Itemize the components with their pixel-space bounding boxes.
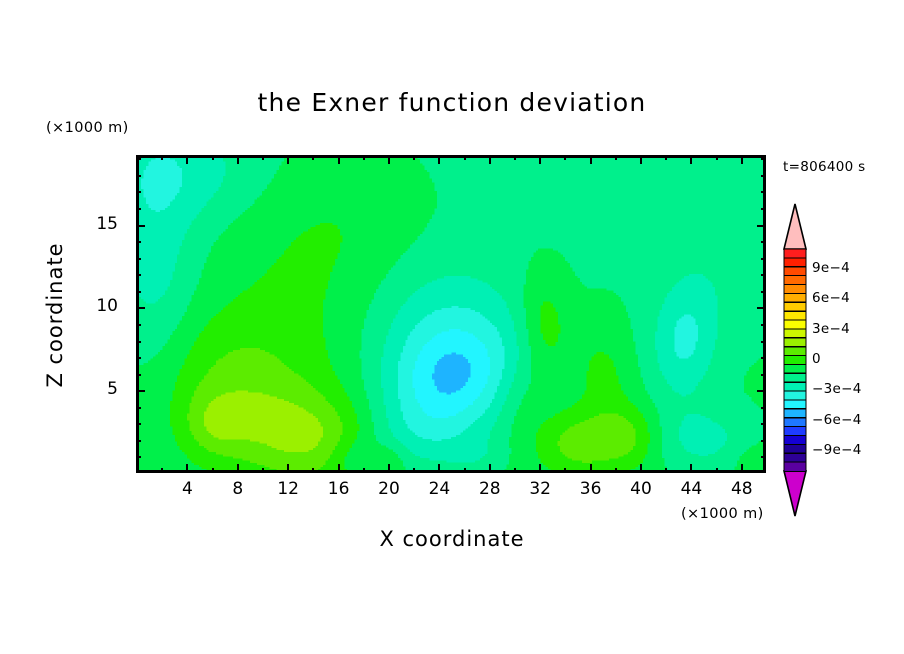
x-tick-label: 48 [722,479,762,499]
colorbar-band [784,391,806,400]
axis-tick [761,324,766,326]
y-axis-unit-label: (×1000 m) [46,120,129,136]
axis-tick [615,468,617,473]
axis-tick [464,468,466,473]
axis-tick [757,390,766,392]
axis-tick [761,357,766,359]
axis-tick [136,357,141,359]
x-tick-label: 44 [671,479,711,499]
axis-tick [136,390,145,392]
axis-tick [212,155,214,160]
colorbar-band [784,409,806,418]
contour-field [136,155,766,473]
axis-tick [287,464,289,473]
axis-tick [136,158,141,160]
x-tick-label: 12 [268,479,308,499]
x-tick-label: 32 [520,479,560,499]
axis-tick [690,464,692,473]
colorbar-band [784,338,806,347]
axis-tick [312,468,314,473]
colorbar-band [784,285,806,294]
colorbar-label: −6e−4 [812,412,862,428]
axis-tick [590,464,592,473]
axis-tick [338,155,340,164]
axis-tick [761,374,766,376]
axis-tick [514,468,516,473]
x-tick-label: 28 [470,479,510,499]
colorbar-band [784,435,806,444]
axis-tick [136,407,141,409]
x-tick-label: 40 [621,479,661,499]
axis-tick [388,155,390,164]
axis-tick [262,468,264,473]
axis-tick [136,175,141,177]
colorbar-band [784,302,806,311]
axis-tick [363,468,365,473]
axis-tick [136,291,141,293]
axis-tick [716,468,718,473]
colorbar-band [784,453,806,462]
timestamp-label: t=806400 s [783,159,865,175]
axis-tick [539,155,541,164]
axis-tick [338,464,340,473]
axis-tick [413,468,415,473]
colorbar-label: 9e−4 [812,260,850,276]
colorbar-band [784,258,806,267]
x-tick-label: 4 [167,479,207,499]
axis-tick [761,407,766,409]
axis-tick [761,191,766,193]
y-tick-label: 10 [86,296,118,316]
colorbar-band [784,347,806,356]
axis-tick [761,274,766,276]
colorbar [782,203,808,517]
axis-tick [312,155,314,160]
page-title: the Exner function deviation [0,88,904,117]
axis-tick [438,155,440,164]
axis-tick [665,468,667,473]
axis-tick [741,464,743,473]
colorbar-label: −3e−4 [812,381,862,397]
axis-tick [186,155,188,164]
axis-tick [716,155,718,160]
axis-tick [388,464,390,473]
axis-tick [690,155,692,164]
y-tick-label: 5 [86,379,118,399]
axis-tick [136,341,141,343]
x-tick-label: 36 [571,479,611,499]
axis-tick [136,456,141,458]
axis-tick [761,175,766,177]
axis-tick [136,440,141,442]
axis-tick [757,307,766,309]
x-axis-unit-label: (×1000 m) [681,506,764,522]
axis-tick [761,258,766,260]
colorbar-band [784,267,806,276]
axis-tick [136,191,141,193]
axis-tick [761,456,766,458]
x-tick-label: 16 [319,479,359,499]
contour-plot-area [136,155,766,473]
colorbar-label: 3e−4 [812,321,850,337]
axis-tick [761,158,766,160]
axis-tick [564,155,566,160]
axis-tick [262,155,264,160]
axis-tick [212,468,214,473]
axis-tick [489,155,491,164]
axis-tick [438,464,440,473]
y-axis-title: Z coordinate [43,225,67,405]
axis-tick [514,155,516,160]
y-tick-label: 15 [86,214,118,234]
colorbar-band [784,427,806,436]
colorbar-overflow-bottom [784,471,806,516]
axis-tick [761,423,766,425]
axis-tick [761,440,766,442]
colorbar-band [784,382,806,391]
axis-tick [136,241,141,243]
colorbar-band [784,400,806,409]
colorbar-label: 0 [812,351,821,367]
axis-tick [741,155,743,164]
colorbar-band [784,293,806,302]
axis-tick [136,374,141,376]
colorbar-scale [782,203,808,517]
axis-tick [136,274,141,276]
colorbar-band [784,356,806,365]
colorbar-label: −9e−4 [812,442,862,458]
colorbar-band [784,276,806,285]
axis-tick [539,464,541,473]
axis-tick [136,258,141,260]
axis-tick [761,208,766,210]
colorbar-band [784,249,806,258]
axis-tick [761,341,766,343]
axis-tick [564,468,566,473]
axis-tick [761,241,766,243]
axis-tick [136,307,145,309]
axis-tick [237,464,239,473]
colorbar-band [784,329,806,338]
x-axis-title: X coordinate [0,527,904,551]
axis-tick [136,324,141,326]
axis-tick [464,155,466,160]
axis-tick [287,155,289,164]
axis-tick [413,155,415,160]
colorbar-band [784,444,806,453]
axis-tick [489,464,491,473]
colorbar-label: 6e−4 [812,290,850,306]
colorbar-band [784,462,806,471]
x-tick-label: 8 [218,479,258,499]
axis-tick [363,155,365,160]
axis-tick [665,155,667,160]
axis-tick [161,468,163,473]
colorbar-band [784,364,806,373]
plot-canvas: the Exner function deviation (×1000 m) (… [0,0,904,654]
x-tick-label: 20 [369,479,409,499]
x-tick-label: 24 [419,479,459,499]
axis-tick [237,155,239,164]
axis-tick [761,291,766,293]
axis-tick [640,155,642,164]
colorbar-band [784,320,806,329]
axis-tick [186,464,188,473]
axis-tick [136,225,145,227]
axis-tick [136,423,141,425]
axis-tick [640,464,642,473]
colorbar-band [784,311,806,320]
axis-tick [615,155,617,160]
axis-tick [136,208,141,210]
axis-tick [590,155,592,164]
colorbar-band [784,418,806,427]
colorbar-band [784,373,806,382]
axis-tick [161,155,163,160]
colorbar-overflow-top [784,204,806,249]
axis-tick [757,225,766,227]
